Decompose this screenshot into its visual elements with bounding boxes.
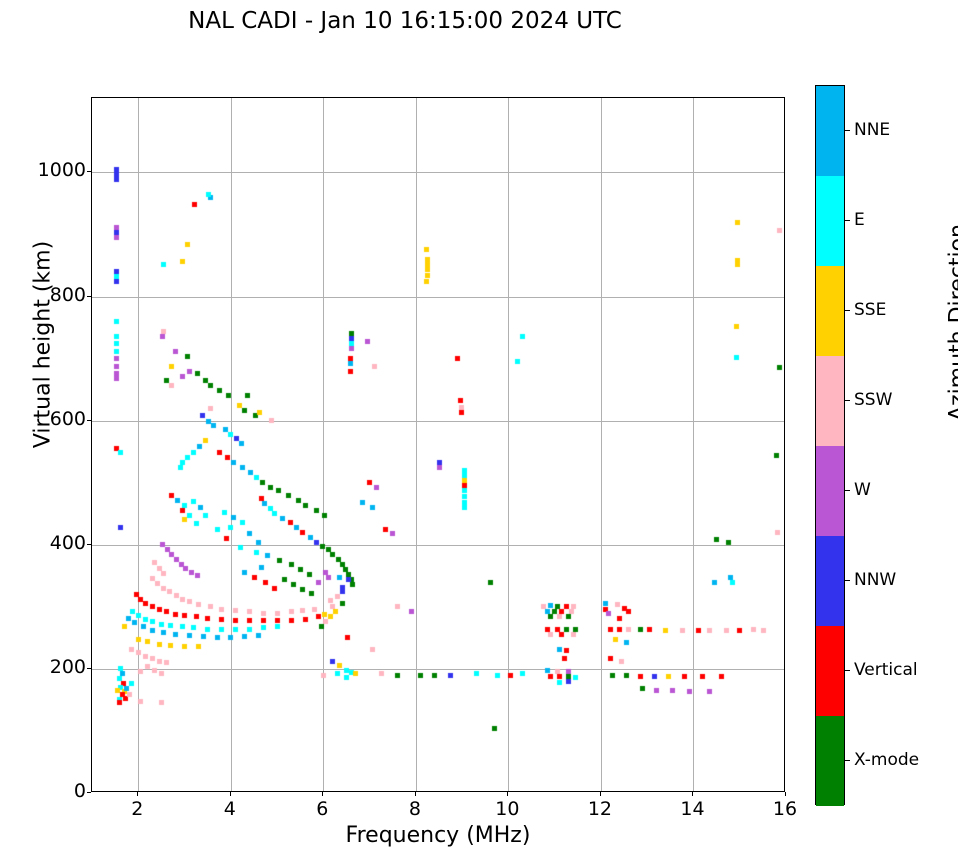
x-tick-mark	[230, 792, 231, 796]
colorbar-segment-ssw	[816, 356, 844, 446]
x-tick-mark	[137, 792, 138, 796]
colorbar-tick	[845, 310, 850, 311]
colorbar-label-sse: SSE	[854, 300, 886, 320]
x-axis-label: Frequency (MHz)	[91, 823, 785, 848]
y-tick-label: 1000	[0, 159, 86, 181]
x-tick-label: 10	[477, 798, 537, 820]
colorbar-segment-sse	[816, 266, 844, 356]
y-tick-mark	[87, 792, 91, 793]
colorbar-tick	[845, 490, 850, 491]
x-tick-label: 14	[662, 798, 722, 820]
colorbar-segment-nne	[816, 86, 844, 176]
y-tick-mark	[87, 668, 91, 669]
colorbar-segment-w	[816, 446, 844, 536]
colorbar-tick	[845, 670, 850, 671]
colorbar-tick	[845, 130, 850, 131]
colorbar-label-vertical: Vertical	[854, 660, 918, 680]
figure-root: NAL CADI - Jan 10 16:15:00 2024 UTC 2468…	[0, 0, 958, 857]
x-tick-mark	[415, 792, 416, 796]
x-tick-label: 4	[200, 798, 260, 820]
colorbar-label-x-mode: X-mode	[854, 750, 919, 770]
x-tick-label: 8	[385, 798, 445, 820]
y-axis-label: Virtual height (km)	[31, 195, 56, 495]
colorbar-segment-x-mode	[816, 716, 844, 806]
x-tick-mark	[322, 792, 323, 796]
y-tick-label: 400	[0, 532, 86, 554]
x-tick-label: 12	[570, 798, 630, 820]
y-tick-label: 200	[0, 656, 86, 678]
colorbar-segment-nnw	[816, 536, 844, 626]
colorbar-label-w: W	[854, 480, 871, 500]
colorbar-segment-e	[816, 176, 844, 266]
x-tick-mark	[785, 792, 786, 796]
colorbar-label-nne: NNE	[854, 120, 890, 140]
colorbar-tick	[845, 760, 850, 761]
y-tick-mark	[87, 296, 91, 297]
colorbar-tick	[845, 400, 850, 401]
colorbar	[815, 85, 845, 805]
plot-area	[91, 97, 785, 792]
x-tick-mark	[507, 792, 508, 796]
colorbar-segment-vertical	[816, 626, 844, 716]
x-tick-label: 6	[292, 798, 352, 820]
colorbar-tick	[845, 580, 850, 581]
page-title: NAL CADI - Jan 10 16:15:00 2024 UTC	[0, 8, 810, 34]
colorbar-label-nnw: NNW	[854, 570, 896, 590]
y-tick-label: 0	[0, 780, 86, 802]
y-tick-mark	[87, 544, 91, 545]
x-tick-mark	[600, 792, 601, 796]
colorbar-title: Azimuth Direction	[946, 193, 958, 453]
y-tick-mark	[87, 420, 91, 421]
colorbar-label-e: E	[854, 210, 865, 230]
x-tick-label: 16	[755, 798, 815, 820]
colorbar-tick	[845, 220, 850, 221]
y-tick-mark	[87, 171, 91, 172]
scatter-data-layer	[92, 98, 785, 792]
colorbar-label-ssw: SSW	[854, 390, 892, 410]
x-tick-label: 2	[107, 798, 167, 820]
x-tick-mark	[692, 792, 693, 796]
